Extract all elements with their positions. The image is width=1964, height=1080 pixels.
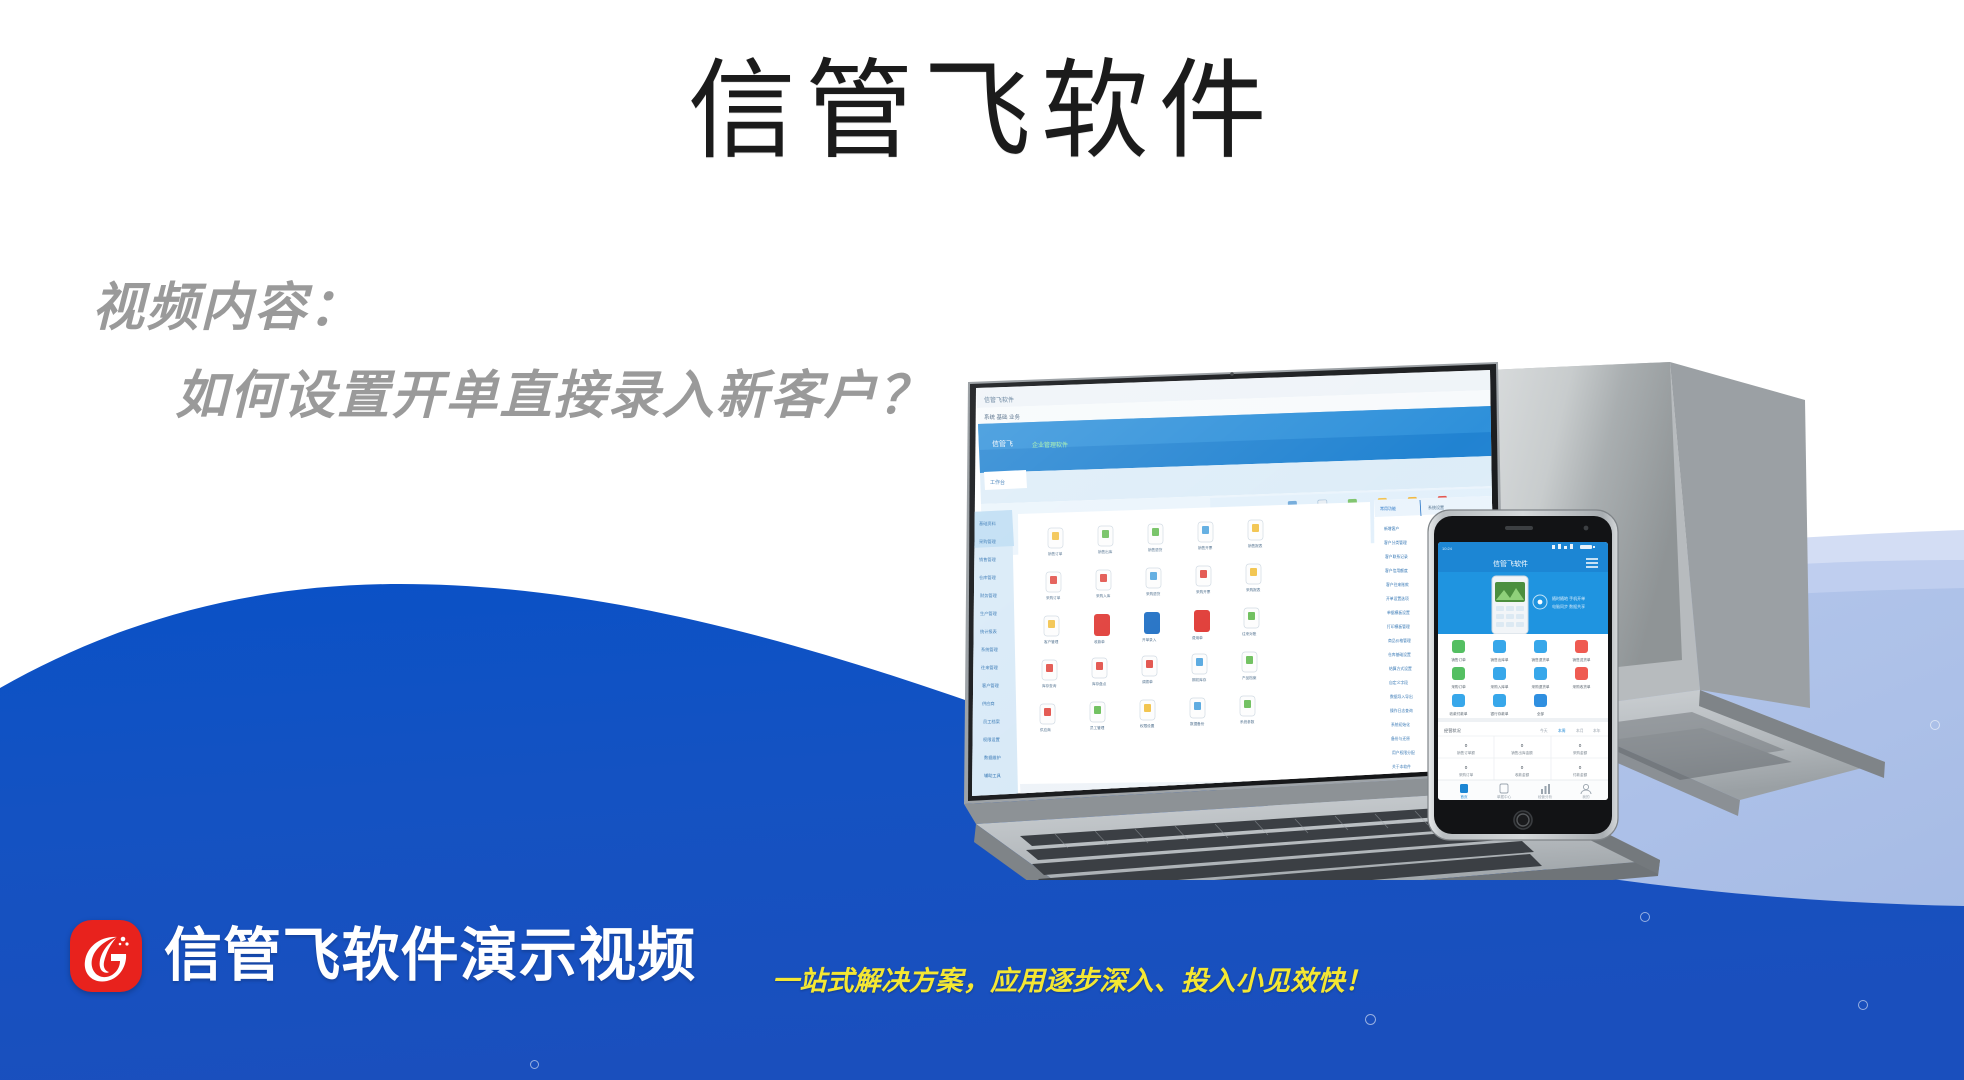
svg-text:采购收货单: 采购收货单 (1573, 684, 1591, 689)
svg-text:采购金额: 采购金额 (1573, 750, 1588, 755)
svg-text:信管飞软件: 信管飞软件 (1493, 559, 1528, 568)
svg-text:电脑同步 数据共享: 电脑同步 数据共享 (1552, 603, 1585, 609)
svg-text:0: 0 (1465, 743, 1468, 748)
device-mockup-group: 信管飞软件 系统 基础 业务 信管飞 企业管理软件 工作台 (880, 360, 1964, 880)
svg-text:单据中心: 单据中心 (1497, 794, 1512, 799)
svg-text:本周: 本周 (1558, 728, 1566, 733)
decor-dot (1858, 1000, 1868, 1010)
svg-text:采购入库单: 采购入库单 (1491, 684, 1509, 689)
tagline: 一站式解决方案，应用逐步深入、投入小见效快！ (772, 968, 1372, 995)
svg-text:本月: 本月 (1576, 728, 1584, 733)
svg-text:我的: 我的 (1582, 794, 1590, 799)
svg-text:收款金额: 收款金额 (1515, 772, 1530, 777)
svg-text:采购退货单: 采购退货单 (1532, 684, 1550, 689)
svg-text:付款金额: 付款金额 (1573, 772, 1588, 777)
svg-text:本年: 本年 (1593, 728, 1601, 733)
smartphone: 10:24 信管飞软件 (1428, 510, 1618, 840)
svg-text:首页: 首页 (1460, 794, 1468, 799)
brand-name: 信管飞软件演示视频 (164, 927, 696, 985)
svg-text:销售订单: 销售订单 (1451, 657, 1466, 662)
decor-dot (1640, 912, 1650, 922)
svg-text:销售订单额: 销售订单额 (1457, 750, 1475, 755)
svg-text:0: 0 (1521, 743, 1524, 748)
brand-bar: 信管飞软件演示视频 (70, 920, 696, 992)
svg-text:销售退货单: 销售退货单 (1532, 657, 1550, 662)
decor-dot (530, 1060, 539, 1069)
video-content-label: 视频内容： (92, 282, 362, 334)
svg-text:经营状况: 经营状况 (1444, 727, 1462, 734)
svg-text:采购订单: 采购订单 (1451, 684, 1466, 689)
xinguanfei-bird-logo-icon (70, 920, 142, 992)
svg-text:0: 0 (1465, 765, 1468, 770)
svg-text:经营分析: 经营分析 (1538, 794, 1553, 799)
svg-text:10:24: 10:24 (1442, 546, 1453, 551)
svg-text:随时随地 手机开单: 随时随地 手机开单 (1552, 595, 1585, 601)
devices-illustration: 信管飞软件 系统 基础 业务 信管飞 企业管理软件 工作台 (880, 360, 1964, 880)
svg-text:收款付款单: 收款付款单 (1450, 711, 1468, 716)
svg-text:全部: 全部 (1537, 711, 1545, 716)
page-title: 信管飞软件 (0, 52, 1964, 173)
svg-text:0: 0 (1579, 743, 1582, 748)
svg-text:销售出库金额: 销售出库金额 (1511, 750, 1533, 755)
decor-dot (1365, 1014, 1376, 1025)
slide-canvas: 信管飞软件 系统 基础 业务 信管飞 企业管理软件 工作台 (0, 0, 1964, 1080)
svg-text:银行存款单: 银行存款单 (1491, 711, 1509, 716)
svg-text:0: 0 (1579, 765, 1582, 770)
video-topic-text: 如何设置开单直接录入新客户？ (175, 370, 932, 422)
svg-text:0: 0 (1521, 765, 1524, 770)
svg-text:销售送货单: 销售送货单 (1573, 657, 1591, 662)
svg-text:今天: 今天 (1540, 728, 1548, 733)
svg-text:采购订单: 采购订单 (1459, 772, 1474, 777)
svg-text:销售出库单: 销售出库单 (1491, 657, 1509, 662)
